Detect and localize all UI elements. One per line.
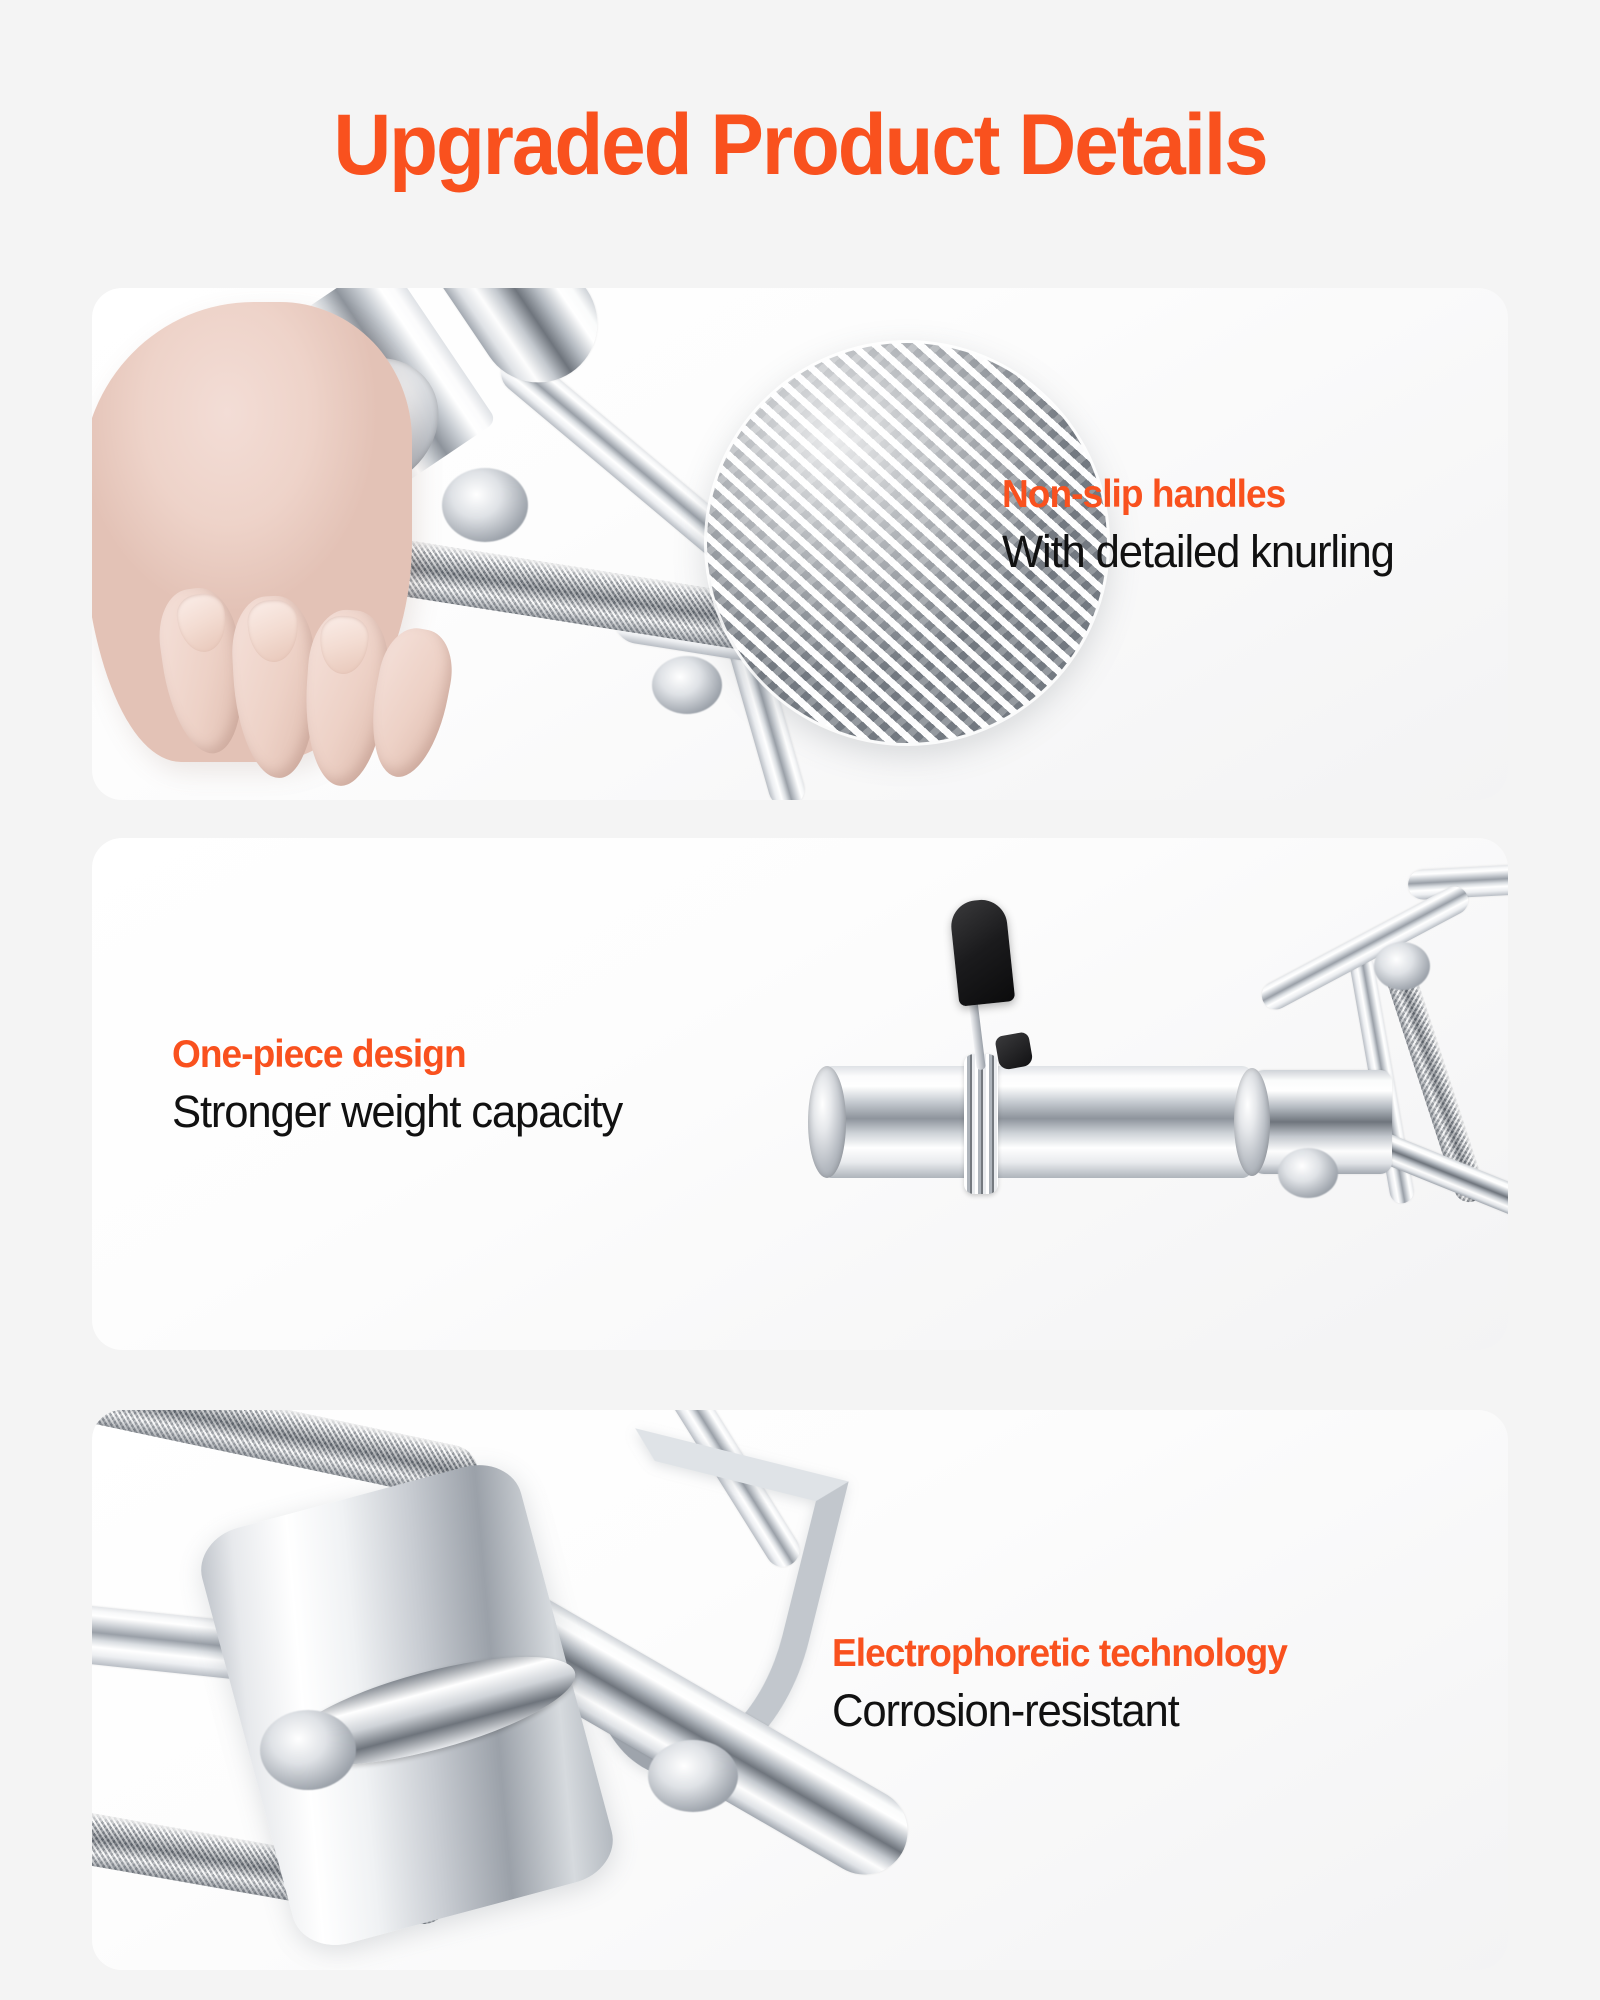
hub-weld-card3 — [260, 1710, 356, 1790]
feature-subtext: Corrosion-resistant — [832, 1685, 1297, 1737]
feature-subtext: Stronger weight capacity — [172, 1086, 622, 1138]
sleeve-endcap-left-card2 — [808, 1066, 846, 1178]
feature-card-one-piece-design: One-piece design Stronger weight capacit… — [92, 838, 1508, 1350]
feature-headline: Electrophoretic technology — [832, 1632, 1287, 1676]
feature-headline: One-piece design — [172, 1033, 613, 1077]
sleeve-endcap-right-card2 — [1234, 1068, 1270, 1176]
feature-subtext: With detailed knurling — [1002, 526, 1394, 578]
feature-card-electrophoretic-technology: Electrophoretic technology Corrosion-res… — [92, 1410, 1508, 1970]
spring-collar-coils — [964, 1054, 998, 1194]
frame-weld-top-card2 — [1374, 942, 1430, 990]
feature-headline: Non-slip handles — [1002, 473, 1386, 517]
barbell-sleeve-card2 — [822, 1066, 1252, 1178]
weld-joint-card1 — [442, 468, 528, 542]
page-title: Upgraded Product Details — [56, 96, 1544, 195]
weld-joint-lower-card1 — [652, 656, 722, 714]
feature-text-non-slip-handles: Non-slip handles With detailed knurling — [1002, 473, 1406, 578]
loop-weld-card3 — [648, 1740, 738, 1812]
spring-collar-black-nub — [994, 1031, 1033, 1070]
spring-collar-black-tab — [949, 897, 1016, 1006]
feature-text-one-piece-design: One-piece design Stronger weight capacit… — [172, 1033, 636, 1138]
product-details-page: Upgraded Product Details Non-slip handle… — [0, 0, 1600, 2000]
feature-text-electrophoretic-technology: Electrophoretic technology Corrosion-res… — [832, 1632, 1311, 1737]
frame-weld-bottom-card2 — [1278, 1148, 1338, 1198]
feature-card-non-slip-handles: Non-slip handles With detailed knurling — [92, 288, 1508, 800]
